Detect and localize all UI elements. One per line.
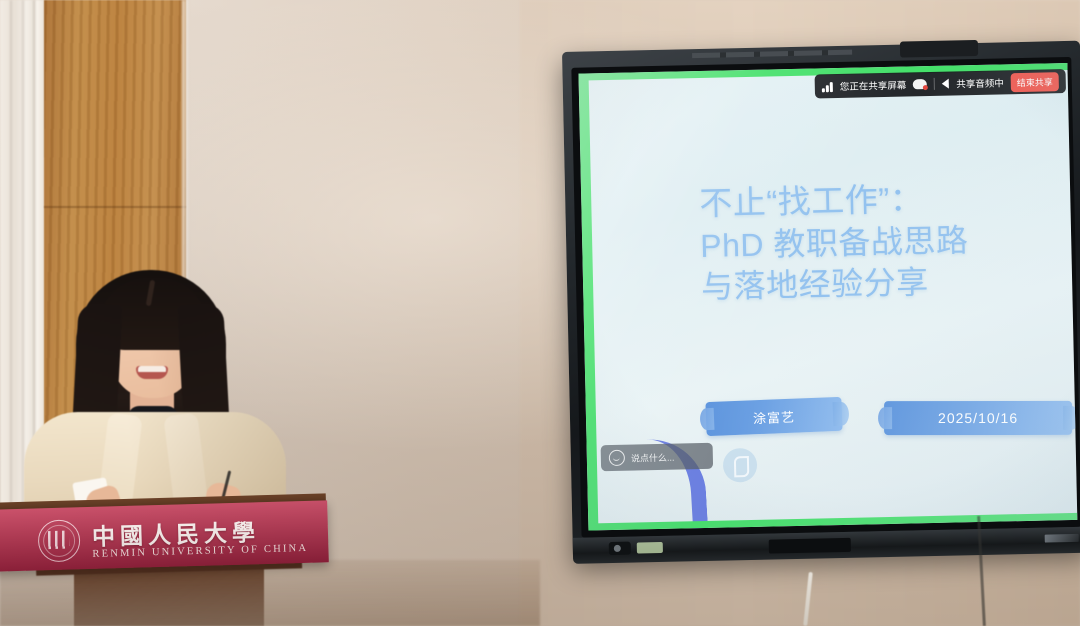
slide-title: 不止“找工作”： PhD 教职备战思路 与落地经验分享 [699, 175, 1062, 309]
podium-front-panel: 中國人民大學 RENMIN UNIVERSITY OF CHINA [0, 500, 329, 571]
chat-placeholder: 说点什么... [631, 450, 675, 464]
toolbar-divider [934, 78, 935, 90]
slide-date-badge: 2025/10/16 [884, 401, 1072, 435]
display-brand-mark [1045, 534, 1079, 543]
presentation-slide: 不止“找工作”： PhD 教职备战思路 与落地经验分享 涂富艺 2025/10/… [578, 63, 1077, 531]
display-port-panel [769, 538, 851, 554]
presenter-name-badge: 涂富艺 [705, 397, 842, 436]
slide-badges: 涂富艺 2025/10/16 [702, 393, 1073, 453]
chat-input-bubble[interactable]: 说点什么... [601, 443, 714, 471]
end-share-button[interactable]: 结束共享 [1011, 72, 1059, 92]
lecture-hall-photo: 不止“找工作”： PhD 教职备战思路 与落地经验分享 涂富艺 2025/10/… [0, 0, 1080, 626]
display-screen[interactable]: 不止“找工作”： PhD 教职备战思路 与落地经验分享 涂富艺 2025/10/… [578, 63, 1077, 531]
speaker-icon[interactable] [942, 79, 949, 89]
presenter-mouth [136, 366, 168, 379]
presenter [30, 262, 280, 522]
display-bezel: 不止“找工作”： PhD 教职备战思路 与落地经验分享 涂富艺 2025/10/… [571, 57, 1080, 538]
signal-bars-icon [822, 81, 833, 92]
wall-mounted-display[interactable]: 不止“找工作”： PhD 教职备战思路 与落地经验分享 涂富艺 2025/10/… [562, 41, 1080, 572]
app-logo-watermark-icon [723, 448, 758, 483]
podium-sheen [0, 500, 329, 571]
wood-panel-seam [44, 206, 186, 208]
slide-title-line-3: 与落地经验分享 [701, 260, 1062, 309]
display-camera-module [900, 40, 978, 58]
display-status-led [637, 542, 663, 554]
share-audio-label: 共享音频中 [956, 75, 1004, 90]
share-status-label: 您正在共享屏幕 [840, 77, 907, 92]
display-ir-sensor-icon [609, 542, 631, 555]
cloud-record-icon[interactable] [913, 79, 927, 89]
smiley-icon[interactable] [609, 450, 625, 466]
